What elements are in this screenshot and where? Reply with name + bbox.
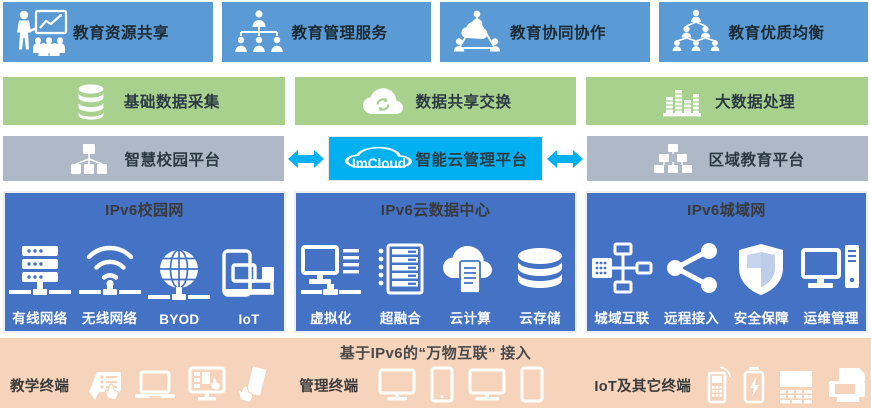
network-item-caption: 虚拟化 (310, 307, 351, 327)
handheld-device-icon (235, 364, 275, 406)
data-layer-row: 基础数据采集 数据共享交换 (0, 77, 871, 125)
terminals-row: 教学终端 (0, 362, 871, 408)
cloud-storage-disks-icon (511, 236, 569, 304)
network-panel-metro[interactable]: IPv6城域网 (585, 191, 868, 333)
data-card-basic-data-collection[interactable]: 基础数据采集 (3, 77, 285, 125)
network-layer-row: IPv6校园网 (0, 191, 871, 333)
platform-card-label: 智能云管理平台 (415, 148, 527, 170)
cloud-sync-icon (360, 81, 406, 121)
network-item-wired[interactable]: 有线网络 (5, 236, 75, 327)
database-icon (68, 81, 114, 121)
network-item-caption: 城域互联 (594, 307, 649, 327)
network-item-virtualization[interactable]: 虚拟化 (296, 236, 366, 327)
bigdata-bars-icon (659, 81, 705, 121)
printer-icon (825, 365, 869, 405)
service-card-education-resource-sharing[interactable]: 教育资源共享 (3, 2, 213, 62)
network-item-caption: 远程接入 (664, 307, 719, 327)
terminal-group-iot[interactable]: IoT及其它终端 (594, 365, 869, 405)
tablet-touch-icon (83, 364, 125, 406)
hyperconverged-rack-icon (370, 236, 432, 304)
feature-phone-icon (705, 365, 731, 405)
network-item-caption: IoT (239, 312, 260, 327)
shield-icon (733, 236, 789, 304)
data-card-label: 数据共享交换 (416, 90, 512, 112)
service-card-label: 教育管理服务 (292, 21, 388, 43)
network-item-metro-interconnect[interactable]: 城域互联 (587, 236, 657, 327)
laptop-icon (133, 365, 177, 405)
service-card-education-management-service[interactable]: 教育管理服务 (222, 2, 432, 62)
desktop-monitor-icon (376, 366, 418, 404)
network-item-caption: BYOD (159, 312, 199, 327)
network-panel-cloud-datacenter[interactable]: IPv6云数据中心 (294, 191, 577, 333)
terminal-group-label: 教学终端 (10, 375, 69, 396)
imcloud-logo-text: ImCloud (352, 156, 406, 171)
network-item-byod[interactable]: BYOD (145, 241, 215, 327)
network-item-hyperconverged[interactable]: 超融合 (366, 236, 436, 327)
share-nodes-icon (662, 236, 722, 304)
server-rack-icon (9, 236, 71, 304)
platform-card-label: 智慧校园平台 (124, 148, 220, 170)
monitor-server-icon (799, 236, 863, 304)
network-item-caption: 云计算 (450, 307, 491, 327)
data-card-data-sharing-exchange[interactable]: 数据共享交换 (295, 77, 577, 125)
platform-layer-row: 智慧校园平台 ImCloud 智能云管理平台 (0, 136, 871, 181)
desktop-monitor-icon-2 (466, 366, 508, 404)
terminal-group-label: IoT及其它终端 (594, 375, 691, 396)
org-chart-people-icon (228, 6, 290, 58)
terminals-band-title: 基于IPv6的“万物互联” 接入 (0, 342, 871, 363)
tablet-portrait-icon (518, 366, 546, 404)
cloud-collaboration-icon (446, 6, 508, 58)
network-topology-icon (590, 236, 654, 304)
campus-nodes-icon (66, 140, 112, 178)
service-card-label: 教育资源共享 (73, 21, 169, 43)
service-card-label: 教育协同协作 (510, 21, 606, 43)
terminals-band: 基于IPv6的“万物互联” 接入 教学终端 (0, 338, 871, 408)
terminal-group-teaching[interactable]: 教学终端 (10, 364, 275, 406)
network-panel-title: IPv6云数据中心 (381, 199, 490, 220)
network-item-remote-access[interactable]: 远程接入 (657, 236, 727, 327)
network-panel-campus[interactable]: IPv6校园网 (3, 191, 286, 333)
network-panel-title: IPv6城域网 (687, 199, 766, 220)
service-card-label: 教育优质均衡 (729, 21, 825, 43)
network-item-caption: 有线网络 (12, 307, 67, 327)
cloud-compute-icon (438, 236, 502, 304)
service-card-education-quality-balance[interactable]: 教育优质均衡 (659, 2, 869, 62)
globe-icon (148, 241, 210, 309)
platform-card-smart-campus[interactable]: 智慧校园平台 (3, 136, 284, 181)
network-item-wireless[interactable]: 无线网络 (75, 236, 145, 327)
platform-card-label: 区域教育平台 (708, 148, 804, 170)
network-item-caption: 超融合 (380, 307, 421, 327)
network-item-caption: 安全保障 (734, 307, 789, 327)
network-panel-title: IPv6校园网 (105, 199, 184, 220)
services-row: 教育资源共享 教育管理服务 (0, 2, 871, 62)
data-card-label: 基础数据采集 (124, 90, 220, 112)
teacher-presentation-icon (9, 6, 71, 58)
power-battery-icon (741, 365, 767, 405)
double-arrow-icon-left (284, 146, 328, 172)
network-item-operations[interactable]: 运维管理 (796, 236, 866, 327)
network-item-caption: 运维管理 (804, 307, 859, 327)
iot-devices-icon (218, 241, 280, 309)
network-item-cloud-storage[interactable]: 云存储 (505, 236, 575, 327)
platform-card-regional-education[interactable]: 区域教育平台 (587, 136, 868, 181)
interactive-display-icon (185, 364, 229, 406)
network-item-cloud-computing[interactable]: 云计算 (436, 236, 506, 327)
terminal-group-label: 管理终端 (299, 375, 358, 396)
wifi-icon (79, 236, 141, 304)
imcloud-logo-icon: ImCloud (343, 142, 413, 176)
network-item-caption: 云存储 (519, 307, 560, 327)
tablet-icon (428, 366, 456, 404)
keyboard-icon (777, 365, 815, 405)
network-item-security[interactable]: 安全保障 (727, 236, 797, 327)
double-arrow-icon-right (543, 146, 587, 172)
terminal-group-management[interactable]: 管理终端 (299, 366, 546, 404)
data-card-bigdata-processing[interactable]: 大数据处理 (586, 77, 868, 125)
platform-card-intelligent-cloud-management[interactable]: ImCloud 智能云管理平台 (328, 136, 543, 181)
region-blocks-icon (650, 140, 696, 178)
network-item-iot[interactable]: IoT (214, 241, 284, 327)
people-network-icon (665, 6, 727, 58)
service-card-education-collaboration[interactable]: 教育协同协作 (440, 2, 650, 62)
monitor-virtualization-icon (299, 236, 363, 304)
ipv6-education-architecture-diagram: 教育资源共享 教育管理服务 (0, 0, 871, 408)
data-card-label: 大数据处理 (715, 90, 795, 112)
network-item-caption: 无线网络 (82, 307, 137, 327)
